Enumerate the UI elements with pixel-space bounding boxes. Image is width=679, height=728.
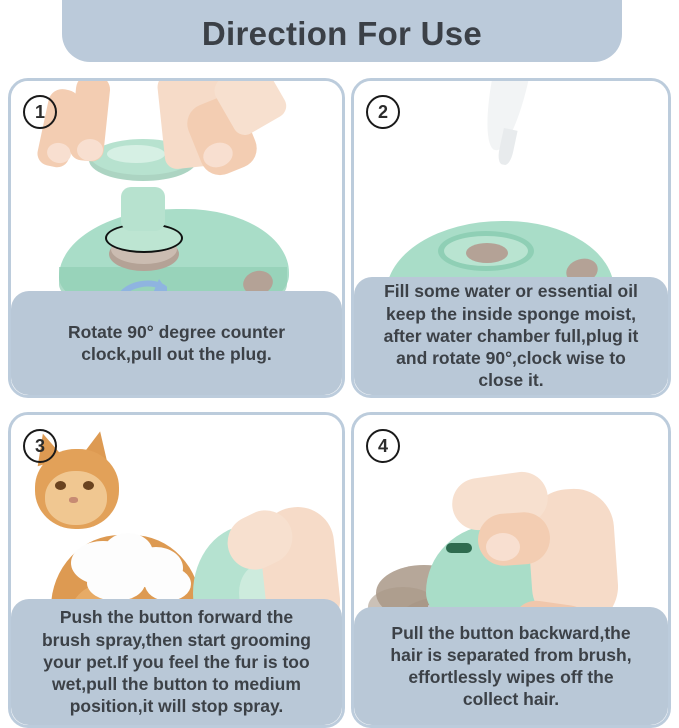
step-caption-3-text: Push the button forward the brush spray,… <box>42 606 311 717</box>
step-badge-3: 3 <box>23 429 57 463</box>
step-caption-1-text: Rotate 90° degree counter clock,pull out… <box>68 321 285 365</box>
steps-grid: 1 Rotate 90° degree counter clock,pull o… <box>0 78 679 728</box>
step-caption-1: Rotate 90° degree counter clock,pull out… <box>11 291 342 395</box>
step-caption-2-text: Fill some water or essential oil keep th… <box>384 280 639 391</box>
step-caption-4: Pull the button backward,the hair is sep… <box>354 607 668 725</box>
step-panel-2: 2 Fill some water or essential oil keep … <box>351 78 671 398</box>
step-panel-4: 4 Pull the button backward,the hair is s… <box>351 412 671 728</box>
brush-button-slot-icon <box>446 543 472 553</box>
step-caption-4-text: Pull the button backward,the hair is sep… <box>390 622 631 711</box>
page-title: Direction For Use <box>202 17 482 62</box>
step-caption-3: Push the button forward the brush spray,… <box>11 599 342 725</box>
step-caption-2: Fill some water or essential oil keep th… <box>354 277 668 395</box>
water-chamber-opening-icon <box>466 243 508 263</box>
step-badge-2: 2 <box>366 95 400 129</box>
step-badge-4: 4 <box>366 429 400 463</box>
step-panel-1: 1 Rotate 90° degree counter clock,pull o… <box>8 78 345 398</box>
step-panel-3: 3 Push the button forward the brush spra… <box>8 412 345 728</box>
header-banner: Direction For Use <box>62 0 622 62</box>
step-badge-1: 1 <box>23 95 57 129</box>
